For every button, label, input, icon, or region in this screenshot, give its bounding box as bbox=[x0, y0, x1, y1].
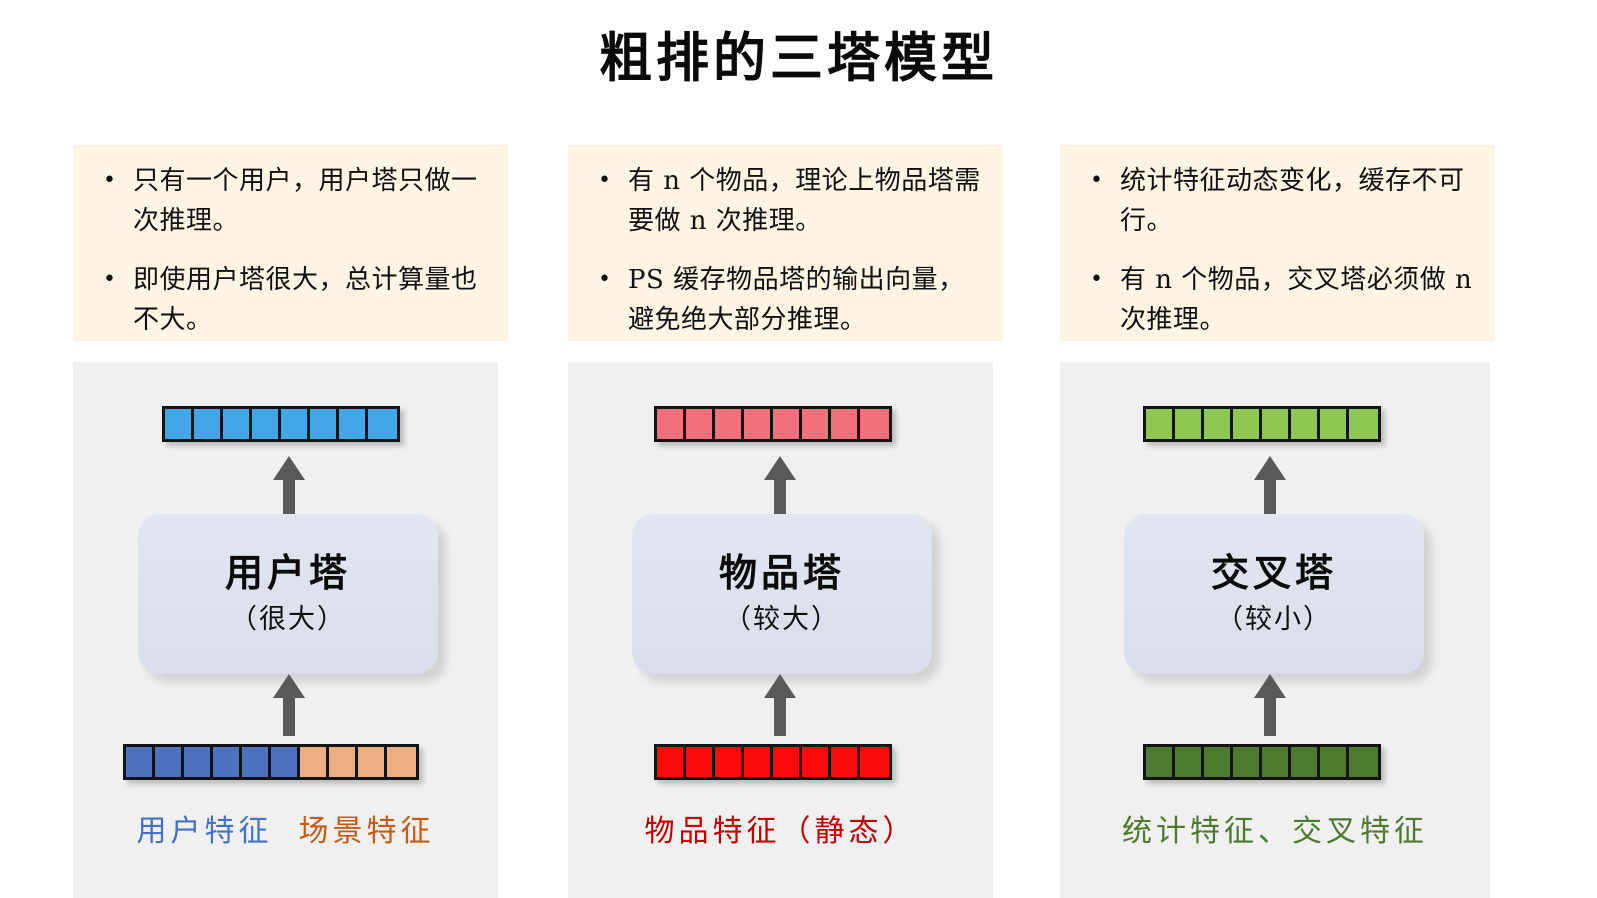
vector-cell bbox=[271, 747, 300, 777]
vector-cell bbox=[773, 409, 802, 439]
column-cross-tower: • 统计特征动态变化，缓存不可行。 • 有 n 个物品，交叉塔必须做 n 次推理… bbox=[1060, 0, 1495, 898]
note-box-cross-tower: • 统计特征动态变化，缓存不可行。 • 有 n 个物品，交叉塔必须做 n 次推理… bbox=[1060, 145, 1495, 341]
vector-cell bbox=[831, 409, 860, 439]
tower-name: 用户塔 bbox=[225, 552, 351, 594]
bullet-text: 统计特征动态变化，缓存不可行。 bbox=[1120, 161, 1481, 241]
vector-cell bbox=[686, 747, 715, 777]
vector-cell bbox=[744, 409, 773, 439]
output-vector-item bbox=[654, 406, 892, 442]
bullet-item: • 统计特征动态变化，缓存不可行。 bbox=[1074, 161, 1481, 241]
vector-cell bbox=[252, 409, 281, 439]
vector-cell bbox=[657, 409, 686, 439]
vector-cell bbox=[1175, 747, 1204, 777]
bullet-item: • 只有一个用户，用户塔只做一次推理。 bbox=[87, 161, 494, 241]
vector-cell bbox=[686, 409, 715, 439]
output-vector-user bbox=[162, 406, 400, 442]
bullet-item: • PS 缓存物品塔的输出向量，避免绝大部分推理。 bbox=[582, 260, 989, 340]
bullet-text: 只有一个用户，用户塔只做一次推理。 bbox=[133, 161, 494, 241]
vector-cell bbox=[310, 409, 339, 439]
tower-size: （较大） bbox=[724, 597, 840, 636]
vector-cell bbox=[860, 409, 889, 439]
tower-name: 物品塔 bbox=[719, 552, 845, 594]
feature-caption-user: 用户特征场景特征 bbox=[73, 806, 498, 850]
bullet-dot-icon: • bbox=[87, 260, 133, 300]
vector-cell bbox=[1175, 409, 1204, 439]
vector-cell bbox=[194, 409, 223, 439]
vector-cell bbox=[339, 409, 368, 439]
column-user-tower: • 只有一个用户，用户塔只做一次推理。 • 即使用户塔很大，总计算量也不大。 用… bbox=[73, 0, 508, 898]
column-item-tower: • 有 n 个物品，理论上物品塔需要做 n 次推理。 • PS 缓存物品塔的输出… bbox=[568, 0, 1003, 898]
vector-cell bbox=[1146, 409, 1175, 439]
arrow-up-icon bbox=[1250, 674, 1290, 736]
tower-name: 交叉塔 bbox=[1211, 552, 1337, 594]
vector-cell bbox=[1204, 747, 1233, 777]
vector-cell bbox=[126, 747, 155, 777]
vector-cell bbox=[213, 747, 242, 777]
vector-cell bbox=[1291, 747, 1320, 777]
vector-cell bbox=[715, 747, 744, 777]
output-vector-cross bbox=[1143, 406, 1381, 442]
note-box-item-tower: • 有 n 个物品，理论上物品塔需要做 n 次推理。 • PS 缓存物品塔的输出… bbox=[568, 145, 1003, 341]
vector-cell bbox=[368, 409, 397, 439]
tower-box-cross: 交叉塔 （较小） bbox=[1124, 514, 1424, 674]
diagram-panel-item-tower: 物品塔 （较大） 物品特征（静态） bbox=[568, 362, 993, 898]
vector-cell bbox=[657, 747, 686, 777]
vector-cell bbox=[1349, 409, 1378, 439]
feature-caption-cross: 统计特征、交叉特征 bbox=[1060, 806, 1490, 850]
input-vector-item bbox=[654, 744, 892, 780]
bullet-text: 有 n 个物品，交叉塔必须做 n 次推理。 bbox=[1120, 260, 1481, 340]
bullet-item: • 即使用户塔很大，总计算量也不大。 bbox=[87, 260, 494, 340]
vector-cell bbox=[860, 747, 889, 777]
vector-cell bbox=[802, 747, 831, 777]
bullet-text: 有 n 个物品，理论上物品塔需要做 n 次推理。 bbox=[628, 161, 989, 241]
vector-cell bbox=[184, 747, 213, 777]
vector-cell bbox=[242, 747, 271, 777]
caption-segment: 物品特征（静态） bbox=[645, 806, 917, 850]
diagram-panel-user-tower: 用户塔 （很大） 用户特征场景特征 bbox=[73, 362, 498, 898]
tower-size: （较小） bbox=[1216, 597, 1332, 636]
arrow-up-icon bbox=[269, 674, 309, 736]
vector-cell bbox=[329, 747, 358, 777]
vector-cell bbox=[1233, 747, 1262, 777]
vector-cell bbox=[300, 747, 329, 777]
vector-cell bbox=[1262, 409, 1291, 439]
vector-cell bbox=[1291, 409, 1320, 439]
arrow-up-icon bbox=[269, 456, 309, 518]
arrow-up-icon bbox=[760, 674, 800, 736]
bullet-dot-icon: • bbox=[582, 161, 628, 201]
vector-cell bbox=[715, 409, 744, 439]
vector-cell bbox=[1204, 409, 1233, 439]
vector-cell bbox=[1320, 409, 1349, 439]
vector-cell bbox=[281, 409, 310, 439]
arrow-up-icon bbox=[1250, 456, 1290, 518]
vector-cell bbox=[1233, 409, 1262, 439]
vector-cell bbox=[1349, 747, 1378, 777]
vector-cell bbox=[223, 409, 252, 439]
caption-segment: 用户特征 bbox=[137, 806, 273, 850]
bullet-item: • 有 n 个物品，理论上物品塔需要做 n 次推理。 bbox=[582, 161, 989, 241]
caption-segment: 场景特征 bbox=[299, 806, 435, 850]
input-vector-user bbox=[123, 744, 419, 780]
bullet-text: 即使用户塔很大，总计算量也不大。 bbox=[133, 260, 494, 340]
vector-cell bbox=[155, 747, 184, 777]
bullet-text: PS 缓存物品塔的输出向量，避免绝大部分推理。 bbox=[628, 260, 989, 340]
vector-cell bbox=[387, 747, 416, 777]
bullet-dot-icon: • bbox=[582, 260, 628, 300]
vector-cell bbox=[831, 747, 860, 777]
vector-cell bbox=[802, 409, 831, 439]
input-vector-cross bbox=[1143, 744, 1381, 780]
bullet-dot-icon: • bbox=[87, 161, 133, 201]
vector-cell bbox=[1262, 747, 1291, 777]
vector-cell bbox=[1320, 747, 1349, 777]
tower-box-user: 用户塔 （很大） bbox=[138, 514, 438, 674]
diagram-panel-cross-tower: 交叉塔 （较小） 统计特征、交叉特征 bbox=[1060, 362, 1490, 898]
note-box-user-tower: • 只有一个用户，用户塔只做一次推理。 • 即使用户塔很大，总计算量也不大。 bbox=[73, 145, 508, 341]
tower-size: （很大） bbox=[230, 597, 346, 636]
tower-box-item: 物品塔 （较大） bbox=[632, 514, 932, 674]
arrow-up-icon bbox=[760, 456, 800, 518]
vector-cell bbox=[744, 747, 773, 777]
caption-segment: 统计特征、交叉特征 bbox=[1122, 806, 1428, 850]
bullet-dot-icon: • bbox=[1074, 260, 1120, 300]
bullet-dot-icon: • bbox=[1074, 161, 1120, 201]
bullet-item: • 有 n 个物品，交叉塔必须做 n 次推理。 bbox=[1074, 260, 1481, 340]
vector-cell bbox=[165, 409, 194, 439]
vector-cell bbox=[773, 747, 802, 777]
vector-cell bbox=[358, 747, 387, 777]
feature-caption-item: 物品特征（静态） bbox=[568, 806, 993, 850]
vector-cell bbox=[1146, 747, 1175, 777]
